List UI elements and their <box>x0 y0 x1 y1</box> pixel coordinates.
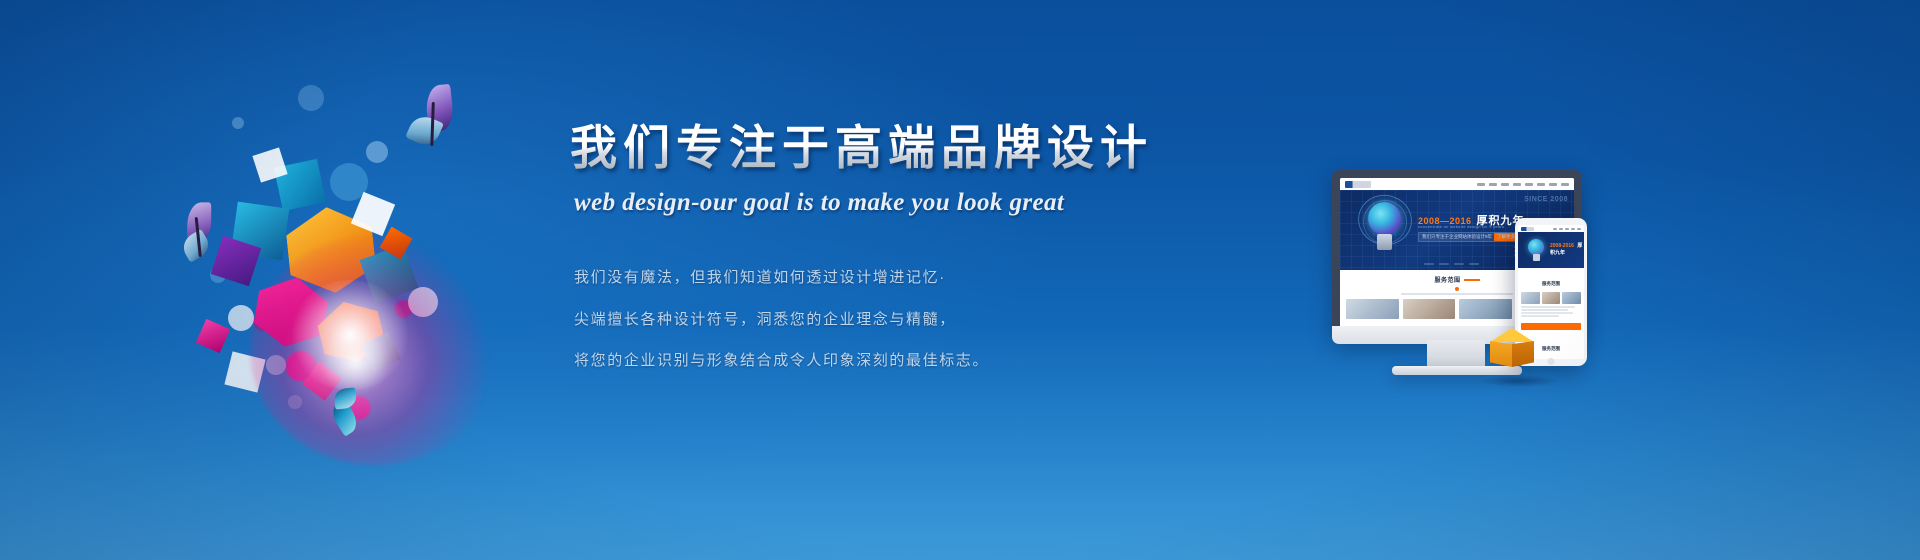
phone-hero: 2008-2016 厚积九年 <box>1518 232 1584 268</box>
phone-logo-icon <box>1521 227 1534 231</box>
light-core <box>290 280 410 390</box>
site-logo-icon <box>1345 181 1371 188</box>
nav-item <box>1513 183 1521 186</box>
cube-shadow <box>1480 375 1560 387</box>
bokeh-circle <box>232 117 244 129</box>
banner-copy: 我们专注于高端品牌设计 web design-our goal is to ma… <box>570 120 1270 392</box>
section-description <box>1401 293 1513 295</box>
section-title: 服务范围 <box>1434 275 1460 284</box>
phone-thumbnail-grid <box>1518 292 1584 304</box>
nav-item <box>1561 183 1569 186</box>
phone-section-title: 服务范围 <box>1542 346 1560 351</box>
butterfly-icon <box>401 80 474 161</box>
nav-item <box>1477 183 1485 186</box>
thumbnail[interactable] <box>1346 299 1399 319</box>
orange-cube-icon <box>1490 328 1534 376</box>
bulb-glass <box>1528 239 1544 255</box>
nav-item <box>1559 228 1563 230</box>
bokeh-circle <box>228 305 254 331</box>
lightbulb-icon <box>1362 200 1406 258</box>
cube-right-face <box>1512 341 1534 367</box>
nav-item <box>1537 183 1545 186</box>
nav-item <box>1553 228 1557 230</box>
bokeh-circle <box>366 141 388 163</box>
phone-nav-menu <box>1553 228 1581 230</box>
bulb-glass <box>1368 202 1401 235</box>
site-nav-menu <box>1477 183 1569 186</box>
hero-callout-bar: 我们只专注于企业网站体验设计9年 了解更多 <box>1418 232 1522 242</box>
hero-watermark: SINCE 2008 <box>1524 196 1568 203</box>
bokeh-circle <box>298 85 324 111</box>
body-line: 将您的企业识别与形象结合成令人印象深刻的最佳标志。 <box>574 350 1270 373</box>
thumbnail[interactable] <box>1459 299 1512 319</box>
lightbulb-icon <box>1526 238 1546 262</box>
hero-dot[interactable] <box>1439 263 1449 265</box>
bulb-base <box>1377 234 1392 250</box>
section-dot-icon <box>1455 287 1459 291</box>
thumbnail[interactable] <box>1403 299 1456 319</box>
nav-item <box>1501 183 1509 186</box>
phone-navbar <box>1518 225 1584 232</box>
cube-top-face <box>1490 328 1534 342</box>
hero-subtitle: concentrate on website design for 9 year… <box>1418 224 1504 229</box>
phone-home-button[interactable] <box>1548 358 1555 365</box>
phone-section-title: 服务范围 <box>1542 281 1560 286</box>
hero-banner: 我们专注于高端品牌设计 web design-our goal is to ma… <box>0 0 1920 560</box>
phone-section-heading: 服务范围 <box>1518 268 1584 292</box>
banner-subheadline: web design-our goal is to make you look … <box>574 189 1270 217</box>
phone-hero-title: 2008-2016 厚积九年 <box>1550 242 1584 256</box>
thumbnail[interactable] <box>1562 292 1581 304</box>
nav-item <box>1565 228 1569 230</box>
monitor-stand-neck <box>1427 340 1485 368</box>
abstract-artwork <box>170 55 570 455</box>
hero-bar-text: 我们只专注于企业网站体验设计9年 <box>1422 234 1492 240</box>
phone-hero-years: 2008-2016 <box>1550 243 1574 249</box>
hero-pagination[interactable] <box>1424 263 1479 265</box>
thumbnail[interactable] <box>1521 292 1540 304</box>
nav-item <box>1549 183 1557 186</box>
cube-left-face <box>1490 341 1512 367</box>
device-mockups: SINCE 2008 2008—2016 厚积九年 concentrate on… <box>1330 160 1660 410</box>
bulb-base <box>1533 254 1540 261</box>
nav-item <box>1571 228 1575 230</box>
nav-item <box>1489 183 1497 186</box>
site-navbar <box>1340 178 1574 190</box>
phone-text-lines <box>1518 304 1584 320</box>
hero-dot[interactable] <box>1454 263 1464 265</box>
body-line: 尖端擅长各种设计符号，洞悉您的企业理念与精髓， <box>574 309 1270 332</box>
section-rule <box>1464 279 1480 281</box>
hero-dot[interactable] <box>1469 263 1479 265</box>
nav-item <box>1525 183 1533 186</box>
hero-dot[interactable] <box>1424 263 1434 265</box>
thumbnail[interactable] <box>1542 292 1561 304</box>
body-line: 我们没有魔法，但我们知道如何透过设计增进记忆· <box>574 267 1270 290</box>
banner-body-copy: 我们没有魔法，但我们知道如何透过设计增进记忆· 尖端擅长各种设计符号，洞悉您的企… <box>570 267 1270 373</box>
banner-headline: 我们专注于高端品牌设计 <box>570 120 1270 175</box>
nav-item <box>1577 228 1581 230</box>
